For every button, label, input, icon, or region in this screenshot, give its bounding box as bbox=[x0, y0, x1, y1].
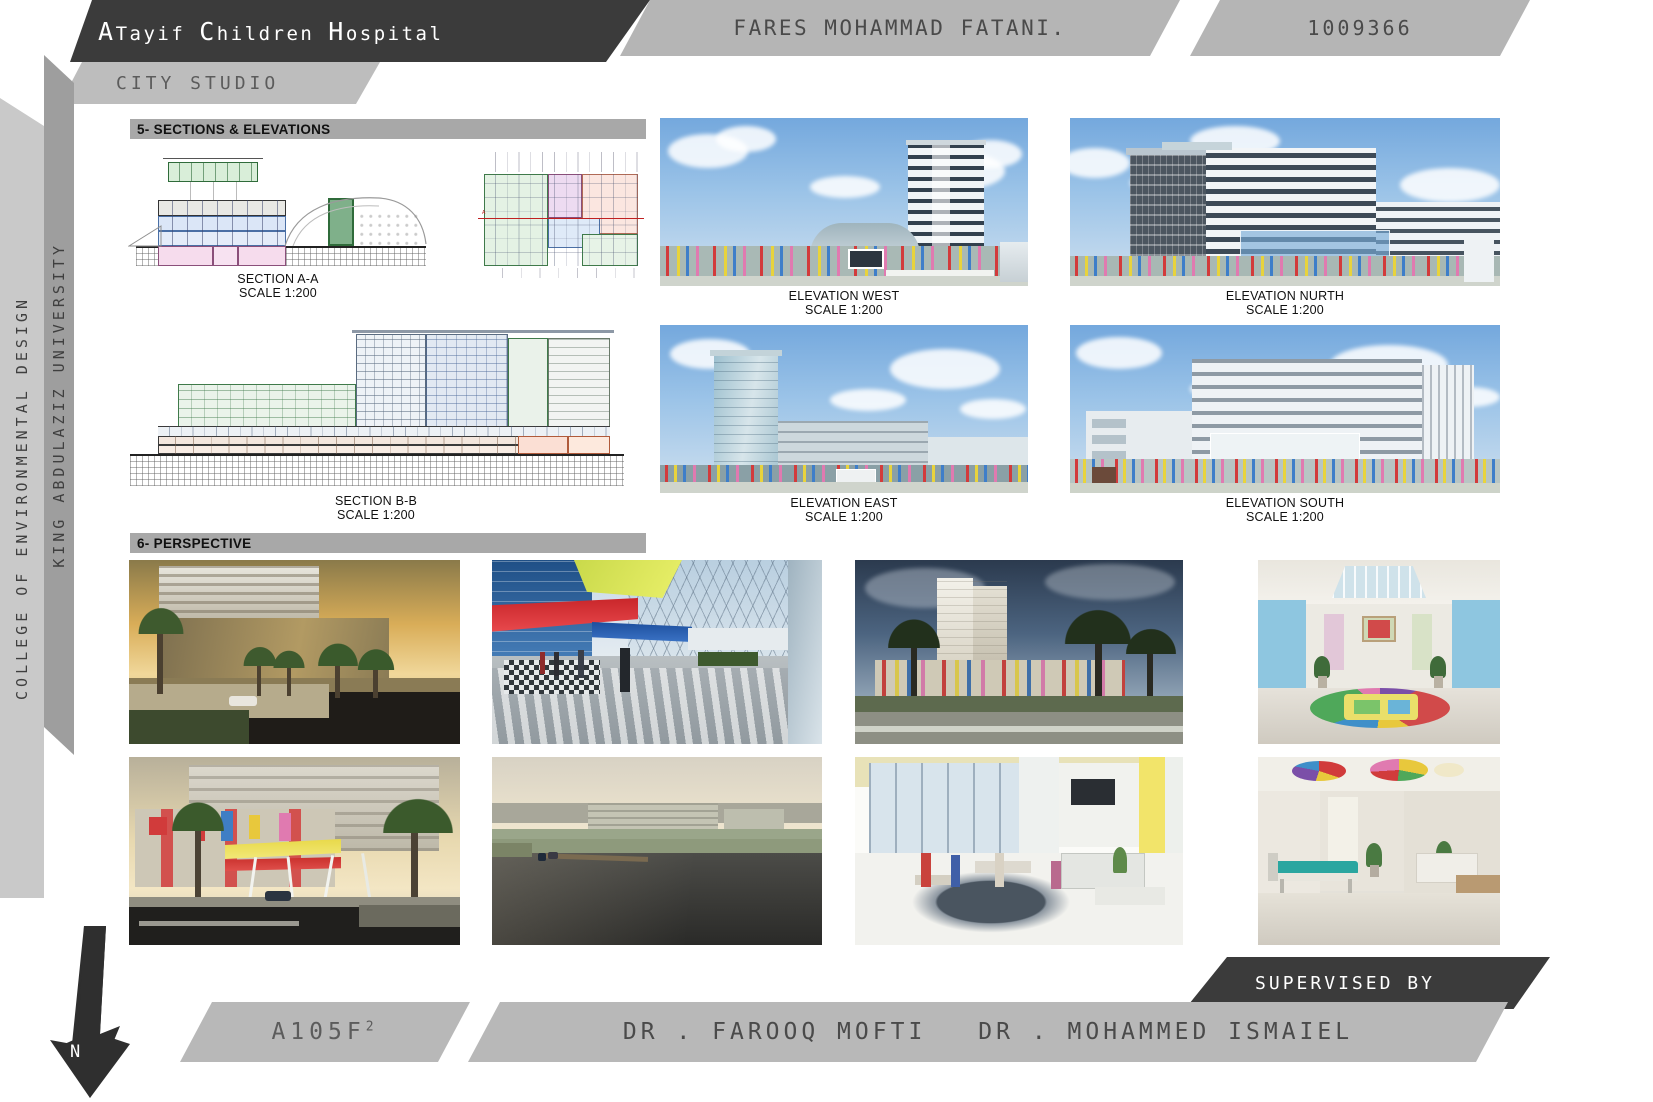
plant-pot bbox=[1434, 676, 1443, 688]
palm-trunk bbox=[195, 819, 201, 901]
university-label: KING ABDULAZIZ UNIVERSITY bbox=[50, 242, 68, 568]
kerb-planting bbox=[359, 905, 460, 927]
caption-elevation-west: ELEVATION WEST SCALE 1:200 bbox=[660, 289, 1028, 317]
glass-tower-bands bbox=[714, 355, 778, 471]
studio-bar: CITY STUDIO bbox=[60, 62, 380, 104]
tower-block-green bbox=[508, 338, 548, 436]
cloud-icon bbox=[810, 176, 880, 198]
floor bbox=[1258, 893, 1500, 945]
tower-green-grid bbox=[168, 162, 258, 182]
potted-plant bbox=[1113, 847, 1127, 873]
basement-room-3 bbox=[238, 246, 286, 266]
cloud-icon bbox=[960, 399, 1026, 419]
glass-tower bbox=[714, 355, 778, 471]
tower-window-bands bbox=[937, 578, 1007, 670]
play-block-green bbox=[1354, 700, 1380, 714]
sheet-number-bar: A105F2 bbox=[180, 1002, 470, 1062]
perspective-exterior-plaza-dusk bbox=[129, 560, 460, 744]
window-wall bbox=[869, 763, 1019, 853]
road-sheen bbox=[492, 853, 822, 945]
roof-feature bbox=[1162, 142, 1232, 150]
ceiling-disc-light bbox=[1434, 763, 1464, 777]
palm-fronds bbox=[169, 799, 227, 831]
north-label: N bbox=[70, 1042, 81, 1062]
perspective-exterior-entry-canopy bbox=[129, 757, 460, 945]
tower-shaft-grid bbox=[168, 182, 258, 200]
render-elevation-east bbox=[660, 325, 1028, 493]
sofa bbox=[1061, 853, 1145, 889]
palm-fronds bbox=[355, 646, 397, 670]
plan-section-cut-line bbox=[478, 218, 644, 219]
person-figure bbox=[540, 652, 545, 674]
cloud-icon bbox=[890, 349, 1000, 389]
child-figure bbox=[921, 853, 931, 887]
person-figure-large bbox=[620, 648, 630, 692]
ground-plane bbox=[660, 482, 1028, 493]
perspective-exterior-tower-night bbox=[855, 560, 1183, 744]
supervisors-bar: DR . FAROOQ MOFTI DR . MOHAMMED ISMAIEL bbox=[468, 1002, 1508, 1062]
tower-block-a-grid bbox=[356, 334, 426, 436]
right-glass-fin bbox=[788, 560, 822, 744]
wall-accent-green bbox=[1412, 614, 1432, 670]
tower-parapet bbox=[906, 140, 986, 145]
color-panel-yellow bbox=[249, 815, 260, 839]
caption-elevation-east-scale: SCALE 1:200 bbox=[660, 510, 1028, 524]
tower-parapet bbox=[352, 330, 614, 333]
window-band bbox=[1092, 435, 1126, 444]
basement-room-2 bbox=[213, 246, 238, 266]
potted-plant bbox=[1314, 656, 1330, 678]
person-figure bbox=[554, 652, 559, 676]
student-name: FARES MOHAMMAD FATANI. bbox=[733, 16, 1066, 40]
palm-fronds bbox=[885, 616, 943, 648]
cloud-icon bbox=[830, 389, 906, 411]
child-figure bbox=[995, 853, 1004, 887]
cloud-icon bbox=[1400, 168, 1500, 202]
caption-elevation-west-scale: SCALE 1:200 bbox=[660, 303, 1028, 317]
parked-car bbox=[265, 891, 291, 901]
side-block-right bbox=[1000, 242, 1028, 282]
college-label: COLLEGE OF ENVIRONMENTAL DESIGN bbox=[13, 296, 31, 700]
ground-plane bbox=[1070, 483, 1500, 493]
podium-room-red bbox=[518, 436, 568, 454]
perspective-interior-patient-room bbox=[1258, 757, 1500, 945]
ground-hatch-bb bbox=[130, 456, 624, 486]
supervised-by-label: SUPERVISED BY bbox=[1255, 973, 1435, 994]
north-arrow bbox=[42, 926, 152, 1102]
cloud-icon bbox=[716, 126, 776, 152]
curtain-panel bbox=[1328, 797, 1358, 869]
caption-section-bb: SECTION B-B SCALE 1:200 bbox=[128, 494, 624, 522]
student-id-bar: 1009366 bbox=[1190, 0, 1530, 56]
page-title-lt: Tayif bbox=[116, 23, 200, 45]
podium-room-orange bbox=[568, 436, 610, 454]
plan-grid bbox=[484, 174, 638, 266]
ground-plane bbox=[1070, 276, 1500, 286]
supervisor-1: DR . FAROOQ MOFTI bbox=[623, 1019, 926, 1045]
palm-fronds bbox=[135, 604, 187, 634]
sheet-number-main: A105F bbox=[271, 1019, 365, 1045]
sheet-number: A105F2 bbox=[271, 1019, 378, 1045]
college-band-text-wrap: COLLEGE OF ENVIRONMENTAL DESIGN bbox=[0, 98, 44, 898]
supervisor-2: DR . MOHAMMED ISMAIEL bbox=[978, 1019, 1353, 1045]
facade-signage bbox=[848, 249, 884, 269]
caption-elevation-south: ELEVATION SOUTH SCALE 1:200 bbox=[1070, 496, 1500, 524]
render-elevation-south bbox=[1070, 325, 1500, 493]
studio-label: CITY STUDIO bbox=[116, 73, 279, 94]
road-marking bbox=[855, 726, 1183, 732]
student-id: 1009366 bbox=[1307, 16, 1412, 40]
north-arrow-icon bbox=[42, 926, 152, 1102]
cloud-icon bbox=[1045, 564, 1175, 600]
parked-car bbox=[229, 696, 257, 706]
project-title-bar: ATayif Children Hospital bbox=[70, 0, 590, 62]
tower-block-b-grid bbox=[426, 334, 508, 436]
tower-dark bbox=[1130, 154, 1206, 266]
page-title-ospital: ospital bbox=[346, 23, 444, 45]
potted-plant bbox=[1430, 656, 1446, 678]
plant-pot bbox=[1318, 676, 1327, 688]
palm-fronds bbox=[379, 795, 457, 833]
planting-foreground bbox=[129, 710, 249, 744]
basement-room-1 bbox=[158, 246, 213, 266]
slab-block-end bbox=[1422, 365, 1474, 467]
back-wall bbox=[1059, 763, 1139, 847]
caption-elevation-nurth: ELEVATION NURTH SCALE 1:200 bbox=[1070, 289, 1500, 317]
slab-block-end-fins bbox=[1422, 365, 1474, 467]
perspective-exterior-road-approach bbox=[492, 757, 822, 945]
caption-elevation-west-title: ELEVATION WEST bbox=[660, 289, 1028, 303]
section-header-perspective: 6- PERSPECTIVE bbox=[130, 533, 646, 553]
skylight-louvres bbox=[1332, 566, 1426, 598]
roadside-bush bbox=[492, 843, 532, 857]
caption-section-bb-title: SECTION B-B bbox=[128, 494, 624, 508]
ground-plane bbox=[660, 276, 1028, 286]
tower-top-line bbox=[163, 158, 263, 159]
glass-tower-parapet bbox=[710, 350, 782, 356]
patient-bed-frame bbox=[1274, 873, 1358, 881]
plan-top-gridlines bbox=[484, 152, 638, 172]
caption-elevation-east: ELEVATION EAST SCALE 1:200 bbox=[660, 496, 1028, 524]
page-title-hildren: hildren bbox=[217, 23, 329, 45]
tower-block-c-grid bbox=[548, 338, 610, 436]
plant-pot bbox=[1370, 865, 1379, 877]
play-block-blue bbox=[1388, 700, 1410, 714]
section-header-sections-elevations: 5- SECTIONS & ELEVATIONS bbox=[130, 119, 646, 139]
drawing-section-bb bbox=[128, 316, 624, 488]
tower-core-stripe bbox=[932, 144, 950, 260]
page-title: ATayif Children Hospital bbox=[98, 17, 443, 46]
palm-fronds bbox=[271, 648, 307, 668]
cloud-icon bbox=[1076, 337, 1162, 369]
child-figure bbox=[1051, 861, 1061, 889]
wall-panel-blue-left bbox=[1258, 600, 1306, 696]
perspective-interior-playroom-sketch bbox=[855, 757, 1183, 945]
wall-panel-blue-right bbox=[1452, 600, 1500, 696]
student-name-bar: FARES MOHAMMAD FATANI. bbox=[620, 0, 1180, 56]
caption-section-aa: SECTION A-A SCALE 1:200 bbox=[128, 272, 428, 300]
planter bbox=[698, 652, 758, 666]
section-mullions bbox=[158, 200, 286, 246]
color-panel-pink bbox=[279, 813, 291, 841]
caption-elevation-south-scale: SCALE 1:200 bbox=[1070, 510, 1500, 524]
low-cabinet bbox=[1095, 887, 1165, 905]
caption-section-aa-title: SECTION A-A bbox=[128, 272, 428, 286]
ceiling-disc-light bbox=[1370, 759, 1428, 781]
supervised-bar: SUPERVISED BY bbox=[1185, 957, 1505, 1009]
render-elevation-nurth bbox=[1070, 118, 1500, 286]
tower bbox=[908, 144, 984, 260]
grade-line-bb bbox=[130, 454, 624, 456]
person-figure bbox=[578, 650, 584, 678]
palm-fronds bbox=[1123, 626, 1179, 654]
plan-bottom-dims bbox=[484, 268, 638, 278]
wall-tv bbox=[1071, 779, 1115, 805]
section-header-label-5: 5- SECTIONS & ELEVATIONS bbox=[137, 122, 330, 137]
perspective-interior-lobby-playmat bbox=[1258, 560, 1500, 744]
left-wall bbox=[1258, 791, 1320, 897]
title-block-sheet: ATayif Children Hospital FARES MOHAMMAD … bbox=[0, 0, 1653, 1102]
sheet-number-sup: 2 bbox=[366, 1019, 379, 1034]
drawing-section-aa bbox=[128, 148, 428, 268]
potted-plant bbox=[1366, 843, 1382, 867]
distant-car bbox=[538, 853, 546, 861]
caption-elevation-nurth-title: ELEVATION NURTH bbox=[1070, 289, 1500, 303]
caption-elevation-east-title: ELEVATION EAST bbox=[660, 496, 1028, 510]
tower-dark-grid bbox=[1130, 154, 1206, 266]
left-ramp bbox=[128, 220, 162, 248]
distant-car bbox=[548, 852, 558, 859]
drawing-floor-plan-key: A bbox=[478, 148, 644, 283]
caption-section-aa-scale: SCALE 1:200 bbox=[128, 286, 428, 300]
render-elevation-west bbox=[660, 118, 1028, 286]
caption-elevation-south-title: ELEVATION SOUTH bbox=[1070, 496, 1500, 510]
checker-paving bbox=[504, 660, 600, 694]
child-figure bbox=[951, 855, 960, 887]
bed-headboard bbox=[1268, 853, 1278, 881]
plan-cut-label-a: A bbox=[482, 210, 485, 216]
window-band bbox=[1092, 419, 1126, 428]
color-panel-red bbox=[149, 817, 167, 835]
caption-section-bb-scale: SCALE 1:200 bbox=[128, 508, 624, 522]
road-marking bbox=[139, 921, 299, 926]
university-band-text-wrap: KING ABDULAZIZ UNIVERSITY bbox=[44, 55, 74, 755]
artwork-image bbox=[1368, 620, 1390, 638]
window-mullions bbox=[869, 763, 1019, 853]
caption-elevation-nurth-scale: SCALE 1:200 bbox=[1070, 303, 1500, 317]
ceiling-disc-light bbox=[1292, 761, 1346, 781]
perspective-interior-atrium-canopy bbox=[492, 560, 822, 744]
section-header-label-6: 6- PERSPECTIVE bbox=[137, 536, 251, 551]
side-block-right bbox=[1464, 238, 1494, 282]
landscape-symbols bbox=[360, 210, 420, 246]
podium-mezz-grid bbox=[158, 426, 610, 436]
